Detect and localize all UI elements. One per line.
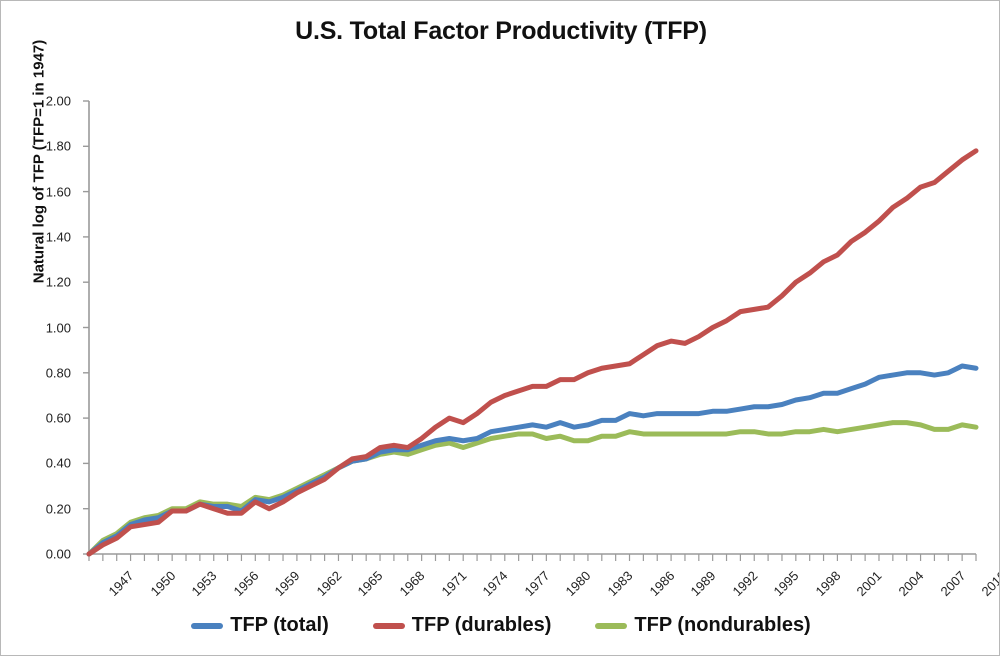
legend-item[interactable]: TFP (durables) — [373, 614, 552, 637]
legend-swatch-icon — [373, 623, 405, 629]
plot-area — [1, 1, 1000, 656]
legend-swatch-icon — [191, 623, 223, 629]
chart-page: U.S. Total Factor Productivity (TFP) Nat… — [0, 0, 1000, 656]
legend-label: TFP (total) — [230, 614, 329, 637]
series-line-tfp-total — [89, 366, 976, 554]
axis-lines — [89, 101, 976, 554]
legend-item[interactable]: TFP (nondurables) — [595, 614, 810, 637]
series-line-tfp-durables — [89, 151, 976, 554]
data-series-group — [89, 151, 976, 554]
axis-ticks — [83, 101, 976, 561]
legend-label: TFP (nondurables) — [634, 614, 810, 637]
series-line-tfp-nondurables — [89, 423, 976, 554]
chart-legend: TFP (total)TFP (durables)TFP (nondurable… — [1, 614, 1000, 637]
legend-label: TFP (durables) — [412, 614, 552, 637]
legend-item[interactable]: TFP (total) — [191, 614, 329, 637]
legend-swatch-icon — [595, 623, 627, 629]
